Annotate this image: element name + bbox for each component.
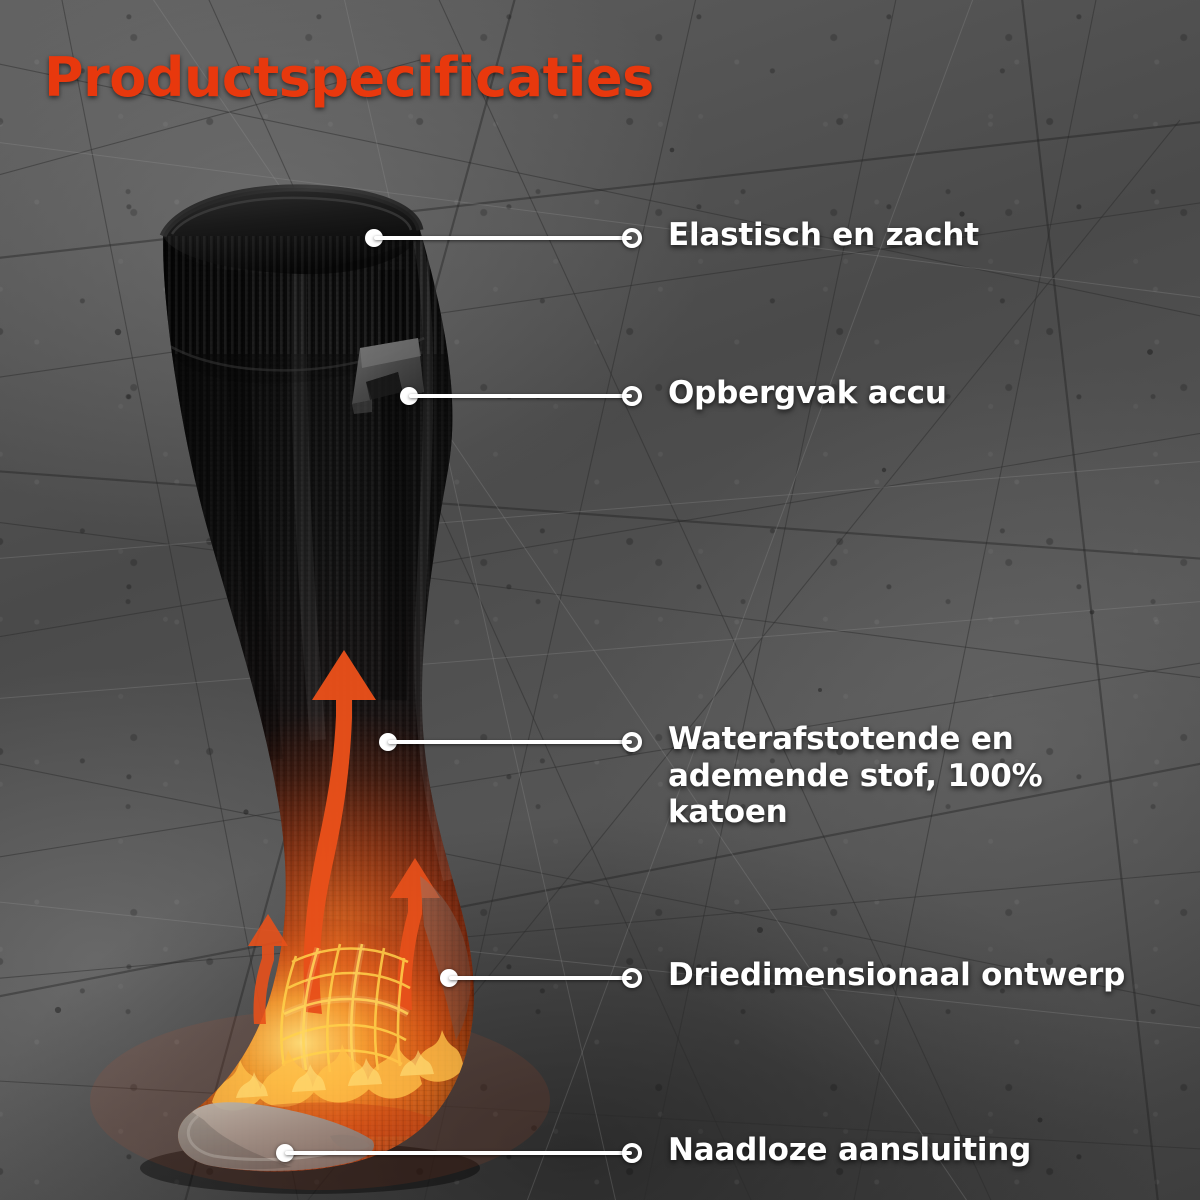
leader-ring-driedimensionaal (622, 968, 642, 988)
leader-ring-waterafstotend (622, 732, 642, 752)
callout-label-opbergvak: Opbergvak accu (668, 375, 947, 412)
leader-ring-opbergvak (622, 386, 642, 406)
heated-sock-illustration (0, 0, 1200, 1200)
leader-ring-naadloos (622, 1143, 642, 1163)
leader-line-elastisch (374, 236, 632, 240)
callout-label-elastisch: Elastisch en zacht (668, 217, 979, 254)
leader-line-opbergvak (409, 394, 632, 398)
leader-line-naadloos (285, 1151, 632, 1155)
leader-ring-elastisch (622, 228, 642, 248)
callout-label-waterafstotend: Waterafstotende en ademende stof, 100% k… (668, 721, 1042, 831)
infographic-canvas: Productspecificaties (0, 0, 1200, 1200)
callout-label-driedimensionaal: Driedimensionaal ontwerp (668, 957, 1125, 994)
leader-line-waterafstotend (388, 740, 632, 744)
callout-label-naadloos: Naadloze aansluiting (668, 1132, 1031, 1169)
leader-line-driedimensionaal (449, 976, 632, 980)
